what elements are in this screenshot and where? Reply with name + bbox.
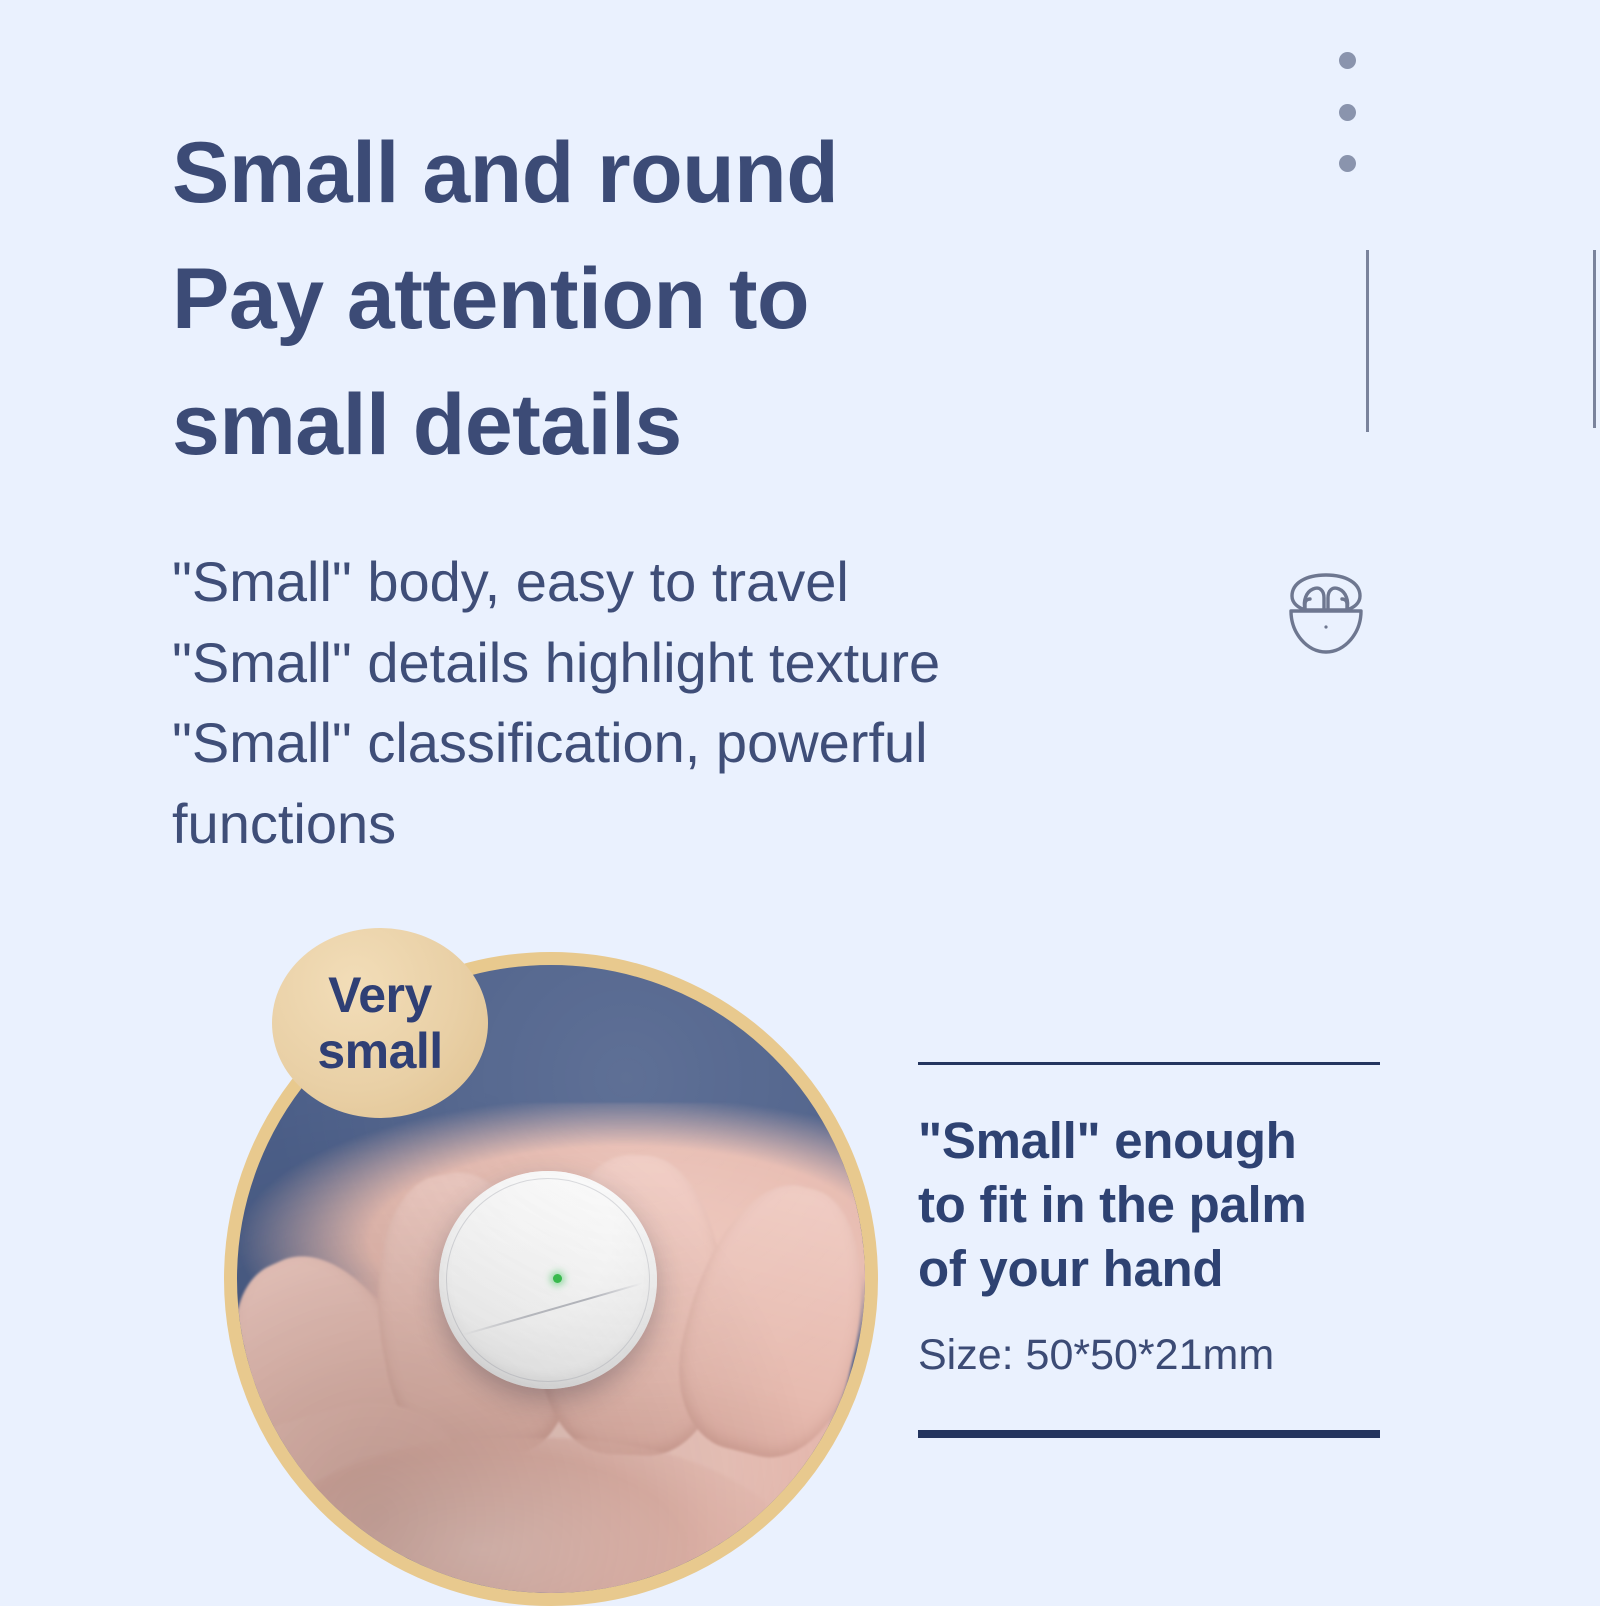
spec-size-label: Size: 50*50*21mm: [918, 1330, 1380, 1382]
product-detail-page: Small and round Pay attention to small d…: [0, 0, 1600, 1600]
vertical-divider-inner: [1366, 250, 1369, 432]
spec-block: "Small" enough to fit in the palm of you…: [918, 1062, 1380, 1438]
spec-title: "Small" enough to fit in the palm of you…: [918, 1109, 1380, 1300]
badge-line-1: Very: [328, 967, 432, 1023]
dot-icon: [1339, 52, 1356, 69]
very-small-badge: Very small: [272, 928, 488, 1118]
earbuds-case-icon: [1272, 563, 1380, 667]
page-title: Small and round Pay attention to small d…: [172, 110, 1092, 489]
dot-icon: [1339, 104, 1356, 121]
round-device: [439, 1171, 657, 1389]
hero-subcopy: "Small" body, easy to travel "Small" det…: [172, 542, 1132, 865]
spec-rule-top: [918, 1062, 1380, 1065]
device-rim: [446, 1178, 650, 1382]
status-led-icon: [553, 1274, 562, 1283]
spec-rule-bottom: [918, 1430, 1380, 1438]
badge-line-2: small: [317, 1023, 442, 1079]
vertical-divider-edge: [1593, 250, 1596, 428]
dot-icon: [1339, 155, 1356, 172]
dot-indicator-group: [1332, 52, 1362, 172]
